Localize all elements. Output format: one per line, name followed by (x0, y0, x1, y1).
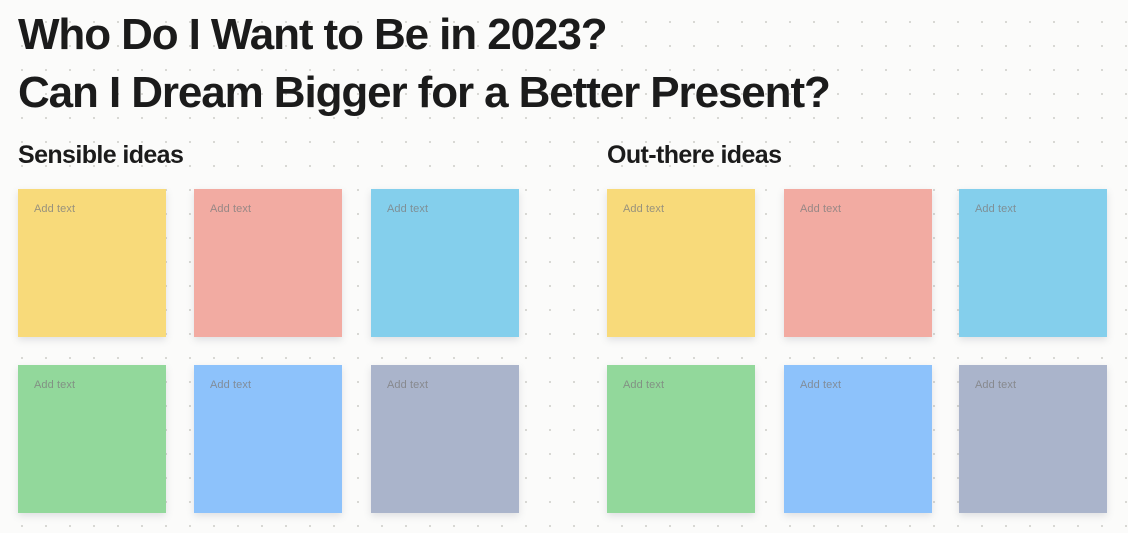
sticky-note-placeholder[interactable]: Add text (34, 203, 75, 215)
sticky-note-placeholder[interactable]: Add text (975, 379, 1016, 391)
sticky-note-placeholder[interactable]: Add text (623, 203, 664, 215)
sticky-note[interactable]: Add text (194, 365, 342, 513)
sticky-note-placeholder[interactable]: Add text (210, 203, 251, 215)
sticky-note[interactable]: Add text (194, 189, 342, 337)
page-title: Who Do I Want to Be in 2023? Can I Dream… (18, 6, 1018, 122)
column-heading-sensible: Sensible ideas (18, 138, 183, 172)
column-heading-out-there: Out-there ideas (607, 138, 781, 172)
sticky-note[interactable]: Add text (959, 365, 1107, 513)
sticky-note-placeholder[interactable]: Add text (623, 379, 664, 391)
sticky-note-placeholder[interactable]: Add text (34, 379, 75, 391)
sticky-note-placeholder[interactable]: Add text (800, 203, 841, 215)
page-title-line-2: Can I Dream Bigger for a Better Present? (18, 64, 1018, 122)
sticky-note[interactable]: Add text (18, 365, 166, 513)
sticky-note[interactable]: Add text (784, 189, 932, 337)
page-title-line-1: Who Do I Want to Be in 2023? (18, 6, 1018, 64)
sticky-note-placeholder[interactable]: Add text (210, 379, 251, 391)
sticky-note[interactable]: Add text (371, 365, 519, 513)
sticky-note[interactable]: Add text (959, 189, 1107, 337)
whiteboard-canvas[interactable]: Who Do I Want to Be in 2023? Can I Dream… (0, 0, 1128, 533)
sticky-note[interactable]: Add text (607, 189, 755, 337)
sticky-note-placeholder[interactable]: Add text (387, 379, 428, 391)
sticky-note[interactable]: Add text (18, 189, 166, 337)
sticky-note[interactable]: Add text (607, 365, 755, 513)
sticky-note-placeholder[interactable]: Add text (387, 203, 428, 215)
sticky-note-placeholder[interactable]: Add text (800, 379, 841, 391)
sticky-note[interactable]: Add text (371, 189, 519, 337)
sticky-note[interactable]: Add text (784, 365, 932, 513)
sticky-note-placeholder[interactable]: Add text (975, 203, 1016, 215)
